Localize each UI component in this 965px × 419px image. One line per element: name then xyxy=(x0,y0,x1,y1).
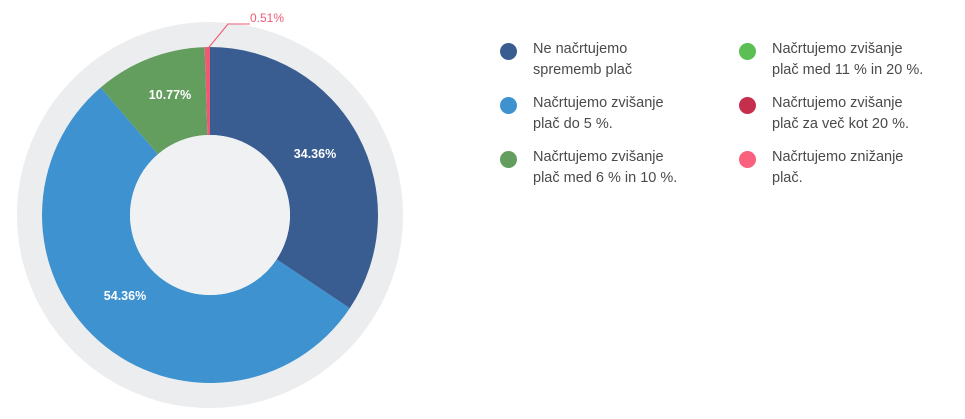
legend-column-left: Ne načrtujemo spremem​b plač Načrtujemo … xyxy=(500,32,725,194)
legend-label-line2: plač. xyxy=(772,170,803,186)
legend-swatch-icon xyxy=(500,97,517,114)
slice-value-label: 34.36% xyxy=(294,147,336,161)
slice-value-label: 10.77% xyxy=(149,88,191,102)
callout-label-0-51: 0.51% xyxy=(250,11,284,25)
legend-label: Načrtujemo zvišanje plač med 6 % in 10 %… xyxy=(533,140,677,189)
legend-label-line2: plač med 6 % in 10 %. xyxy=(533,170,677,186)
legend-item-zvisanje-11-20[interactable]: Načrtujemo zvišanje plač med 11 % in 20 … xyxy=(739,32,964,86)
legend-label: Ne načrtujemo spremem​b plač xyxy=(533,32,632,81)
legend-label-line2: plač za več kot 20 %. xyxy=(772,116,909,132)
legend-label-line1: Načrtujemo znižanje xyxy=(772,149,903,165)
legend-label-line1: Načrtujemo zvišanje xyxy=(772,41,903,57)
legend-swatch-icon xyxy=(500,43,517,60)
legend-item-ne-nacrtujemo-sprememb-plac[interactable]: Ne načrtujemo spremem​b plač xyxy=(500,32,725,86)
legend-swatch-icon xyxy=(739,97,756,114)
legend-item-znizanje[interactable]: Načrtujemo znižanje plač. xyxy=(739,140,964,194)
legend-label: Načrtujemo zvišanje plač do 5 %. xyxy=(533,86,664,135)
legend-label-line1: Načrtujemo zvišanje xyxy=(772,95,903,111)
legend-label-line2: plač med 11 % in 20 %. xyxy=(772,62,923,78)
legend-label: Načrtujemo zvišanje plač za več kot 20 %… xyxy=(772,86,909,135)
legend-column-right: Načrtujemo zvišanje plač med 11 % in 20 … xyxy=(739,32,964,194)
legend-label-line1: Načrtujemo zvišanje xyxy=(533,95,664,111)
legend-item-zvisanje-do-5[interactable]: Načrtujemo zvišanje plač do 5 %. xyxy=(500,86,725,140)
legend-label-line1: Ne načrtujemo xyxy=(533,41,627,57)
legend-item-zvisanje-nad-20[interactable]: Načrtujemo zvišanje plač za več kot 20 %… xyxy=(739,86,964,140)
legend-label-line2: spremem​b plač xyxy=(533,62,632,78)
donut-chart-svg: 34.36%54.36%10.77% 0.51% xyxy=(0,0,440,419)
chart-legend: Ne načrtujemo spremem​b plač Načrtujemo … xyxy=(500,32,965,194)
legend-swatch-icon xyxy=(500,151,517,168)
legend-label: Načrtujemo znižanje plač. xyxy=(772,140,903,189)
legend-swatch-icon xyxy=(739,151,756,168)
donut-chart: 34.36%54.36%10.77% 0.51% xyxy=(0,0,440,419)
legend-label-line2: plač do 5 %. xyxy=(533,116,613,132)
legend-label-line1: Načrtujemo zvišanje xyxy=(533,149,664,165)
donut-hole xyxy=(130,135,290,295)
legend-label: Načrtujemo zvišanje plač med 11 % in 20 … xyxy=(772,32,923,81)
legend-swatch-icon xyxy=(739,43,756,60)
chart-page: 34.36%54.36%10.77% 0.51% Ne načrtujemo s… xyxy=(0,0,965,419)
legend-item-zvisanje-6-10[interactable]: Načrtujemo zvišanje plač med 6 % in 10 %… xyxy=(500,140,725,194)
slice-value-label: 54.36% xyxy=(104,289,146,303)
